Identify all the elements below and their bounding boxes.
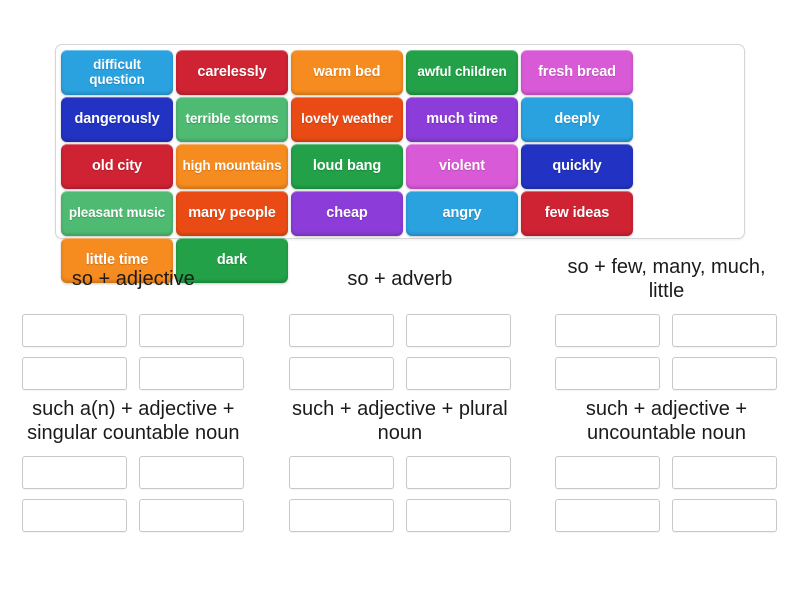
word-tile[interactable]: violent (406, 144, 518, 189)
word-tile-label: old city (65, 159, 169, 174)
word-tile[interactable]: cheap (291, 191, 403, 236)
word-tile-label: dangerously (65, 112, 169, 127)
category-slot-group (549, 314, 784, 390)
category-group: so + adverb (267, 248, 534, 390)
word-tile-label: lovely weather (295, 112, 399, 126)
category-group: so + few, many, much, little (533, 248, 800, 390)
word-tile-label: much time (410, 112, 514, 127)
drop-slot[interactable] (672, 314, 777, 347)
category-group: such a(n) + adjective + singular countab… (0, 390, 267, 532)
drop-slot[interactable] (289, 314, 394, 347)
drop-slot[interactable] (289, 357, 394, 390)
drop-slot[interactable] (555, 499, 660, 532)
drop-slot[interactable] (555, 357, 660, 390)
word-tile[interactable]: much time (406, 97, 518, 142)
word-tile[interactable]: deeply (521, 97, 633, 142)
word-tile[interactable]: old city (61, 144, 173, 189)
word-tile-label: carelessly (180, 65, 284, 80)
drop-slot[interactable] (139, 499, 244, 532)
word-tile-label: loud bang (295, 159, 399, 174)
word-tile[interactable]: awful children (406, 50, 518, 95)
word-tile[interactable]: quickly (521, 144, 633, 189)
word-tile-label: difficult question (65, 58, 169, 86)
word-tile-label: awful children (410, 65, 514, 79)
word-tile-label: warm bed (295, 65, 399, 80)
drop-slot[interactable] (22, 499, 127, 532)
category-title: such + adjective + plural noun (283, 398, 518, 446)
drop-slot[interactable] (289, 499, 394, 532)
drop-slot[interactable] (406, 456, 511, 489)
category-slot-group (283, 456, 518, 532)
category-group: such + adjective + plural noun (267, 390, 534, 532)
word-tile[interactable]: dangerously (61, 97, 173, 142)
drop-slot[interactable] (555, 314, 660, 347)
category-slot-group (283, 314, 518, 390)
drop-slot[interactable] (406, 357, 511, 390)
word-tile-label: violent (410, 159, 514, 174)
drop-slot[interactable] (555, 456, 660, 489)
drop-slot[interactable] (22, 314, 127, 347)
word-tile[interactable]: few ideas (521, 191, 633, 236)
category-title: so + adjective (72, 256, 195, 304)
word-tile[interactable]: angry (406, 191, 518, 236)
drop-slot[interactable] (672, 456, 777, 489)
drop-slot[interactable] (139, 456, 244, 489)
word-tile[interactable]: loud bang (291, 144, 403, 189)
category-slot-group (549, 456, 784, 532)
word-tile[interactable]: many people (176, 191, 288, 236)
category-row-bottom: such a(n) + adjective + singular countab… (0, 390, 800, 532)
word-tile-label: pleasant music (65, 206, 169, 220)
word-tile[interactable]: warm bed (291, 50, 403, 95)
drop-slot[interactable] (139, 357, 244, 390)
drop-slot[interactable] (139, 314, 244, 347)
category-slot-group (16, 314, 251, 390)
word-tile-label: fresh bread (525, 65, 629, 80)
category-row-top: so + adjectiveso + adverbso + few, many,… (0, 248, 800, 390)
word-tile[interactable]: carelessly (176, 50, 288, 95)
word-tile-label: deeply (525, 112, 629, 127)
word-tile[interactable]: high mountains (176, 144, 288, 189)
word-tile-label: cheap (295, 206, 399, 221)
category-slot-group (16, 456, 251, 532)
word-tile[interactable]: fresh bread (521, 50, 633, 95)
word-tile[interactable]: pleasant music (61, 191, 173, 236)
drop-slot[interactable] (672, 357, 777, 390)
word-tile[interactable]: terrible storms (176, 97, 288, 142)
drop-slot[interactable] (22, 456, 127, 489)
word-tile-label: quickly (525, 159, 629, 174)
drop-slot[interactable] (406, 499, 511, 532)
category-title: such a(n) + adjective + singular countab… (16, 398, 251, 446)
word-tile[interactable]: difficult question (61, 50, 173, 95)
category-group: such + adjective + uncountable noun (533, 390, 800, 532)
word-tile-label: angry (410, 206, 514, 221)
word-tile-tray: difficult questioncarelesslywarm bedawfu… (55, 44, 745, 239)
word-tile-label: high mountains (180, 159, 284, 173)
category-group: so + adjective (0, 248, 267, 390)
drop-slot[interactable] (22, 357, 127, 390)
drop-slot[interactable] (406, 314, 511, 347)
word-tile-label: many people (180, 206, 284, 221)
category-title: so + few, many, much, little (549, 256, 784, 304)
category-area: so + adjectiveso + adverbso + few, many,… (0, 248, 800, 532)
word-tile[interactable]: lovely weather (291, 97, 403, 142)
category-title: such + adjective + uncountable noun (549, 398, 784, 446)
drop-slot[interactable] (672, 499, 777, 532)
drop-slot[interactable] (289, 456, 394, 489)
activity-canvas: difficult questioncarelesslywarm bedawfu… (0, 0, 800, 600)
word-tile-label: terrible storms (180, 112, 284, 126)
category-title: so + adverb (347, 256, 452, 304)
word-tile-label: few ideas (525, 206, 629, 221)
